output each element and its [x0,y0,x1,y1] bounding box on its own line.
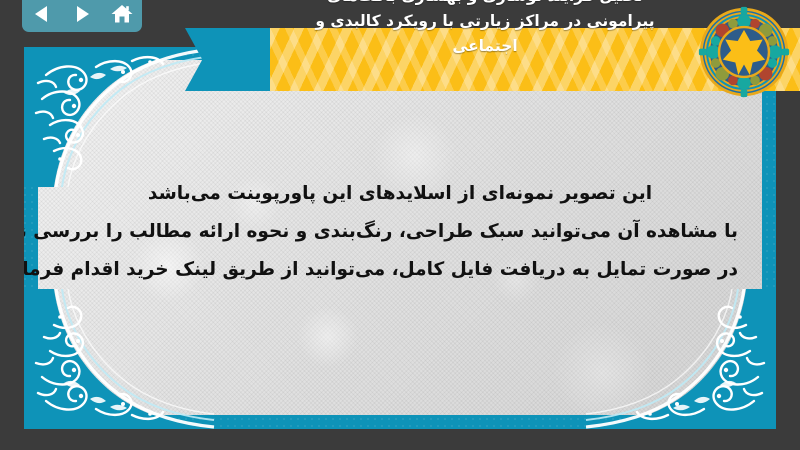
title-line-3: اجتماعی [280,34,690,59]
slide-body-text: این تصویر نمونه‌ای از اسلایدهای این پاور… [62,175,738,289]
triangle-right-icon [71,3,93,25]
title-line-2: پیرامونی در مراکز زیارتی با رویکرد کالبد… [280,9,690,34]
slide-header: تحلیل فرآیند نوسازی و بهسازی بافت‌های پی… [180,0,800,100]
home-icon [110,3,134,25]
body-line-3: در صورت تمایل به دریافت فایل کامل، می‌تو… [62,251,738,289]
previous-slide-button[interactable] [28,1,56,27]
next-slide-button[interactable] [68,1,96,27]
body-line-1: این تصویر نمونه‌ای از اسلایدهای این پاور… [62,175,738,213]
title-line-1: تحلیل فرآیند نوسازی و بهسازی بافت‌های [280,0,690,9]
slide-viewer: این تصویر نمونه‌ای از اسلایدهای این پاور… [0,0,800,450]
persian-medallion-icon [696,4,792,100]
home-button[interactable] [108,1,136,27]
triangle-left-icon [31,3,53,25]
slide: این تصویر نمونه‌ای از اسلایدهای این پاور… [24,47,776,429]
page-title: تحلیل فرآیند نوسازی و بهسازی بافت‌های پی… [280,0,690,59]
navigation-bar [22,0,142,32]
header-arrow-shape [185,28,247,91]
body-line-2: با مشاهده آن می‌توانید سبک طراحی، رنگ‌بن… [62,213,738,251]
